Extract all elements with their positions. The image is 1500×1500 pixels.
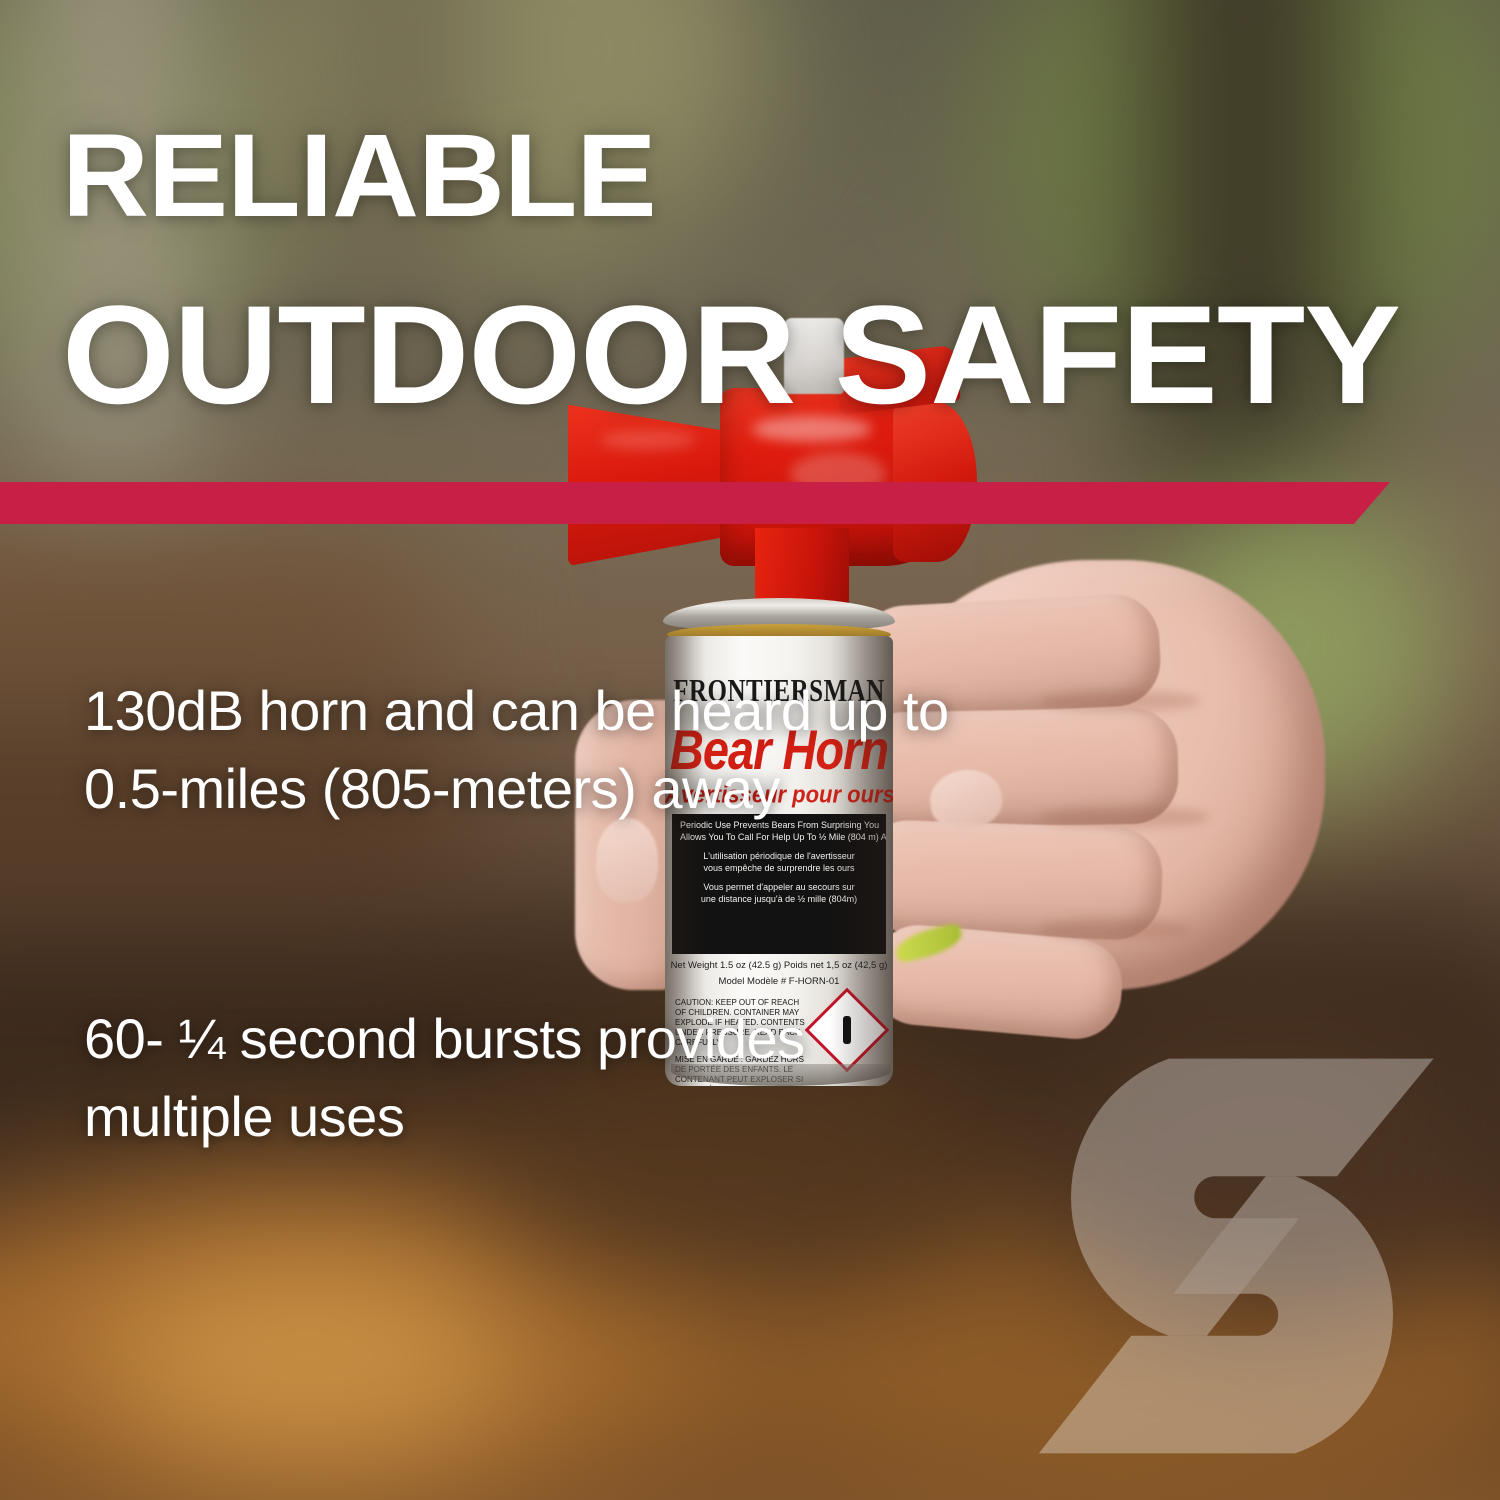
accent-bar: [0, 482, 1390, 524]
knuckle-crease-2: [1040, 806, 1210, 828]
horn-gloss-highlight-3: [600, 430, 696, 450]
page-title-line-2: OUTDOOR SAFETY: [62, 288, 1400, 422]
gas-cylinder-glyph: [843, 1016, 851, 1044]
label-model-number: Model Modèle # F-HORN-01: [665, 976, 893, 987]
black-panel-line: une distance jusqu'à de ½ mille (804m): [672, 894, 886, 906]
feature-text-1: 130dB horn and can be heard up to 0.5-mi…: [84, 672, 949, 828]
knuckle-crease-1: [1040, 690, 1200, 712]
black-panel-line: vous empêche de surprendre les ours: [672, 863, 886, 875]
black-panel-line: L'utilisation périodique de l'avertisseu…: [672, 851, 886, 863]
black-panel-line: Vous permet d'appeler au secours sur: [672, 882, 886, 894]
black-panel-line: Allows You To Call For Help Up To ½ Mile…: [672, 832, 886, 844]
product-marketing-image: FRONTIERSMAN Bear Horn Avertisseur pour …: [0, 0, 1500, 1500]
label-black-panel: Periodic Use Prevents Bears From Surpris…: [672, 814, 886, 954]
feature-text-2: 60- ¼ second bursts provides multiple us…: [84, 1000, 805, 1156]
label-net-weight: Net Weight 1.5 oz (42.5 g) Poids net 1,5…: [665, 960, 893, 971]
thumb-nail: [596, 818, 658, 902]
page-title-line-1: RELIABLE: [62, 120, 656, 233]
gas-cylinder-hazard-icon: [805, 988, 890, 1073]
knuckle-crease-3: [1040, 918, 1190, 940]
